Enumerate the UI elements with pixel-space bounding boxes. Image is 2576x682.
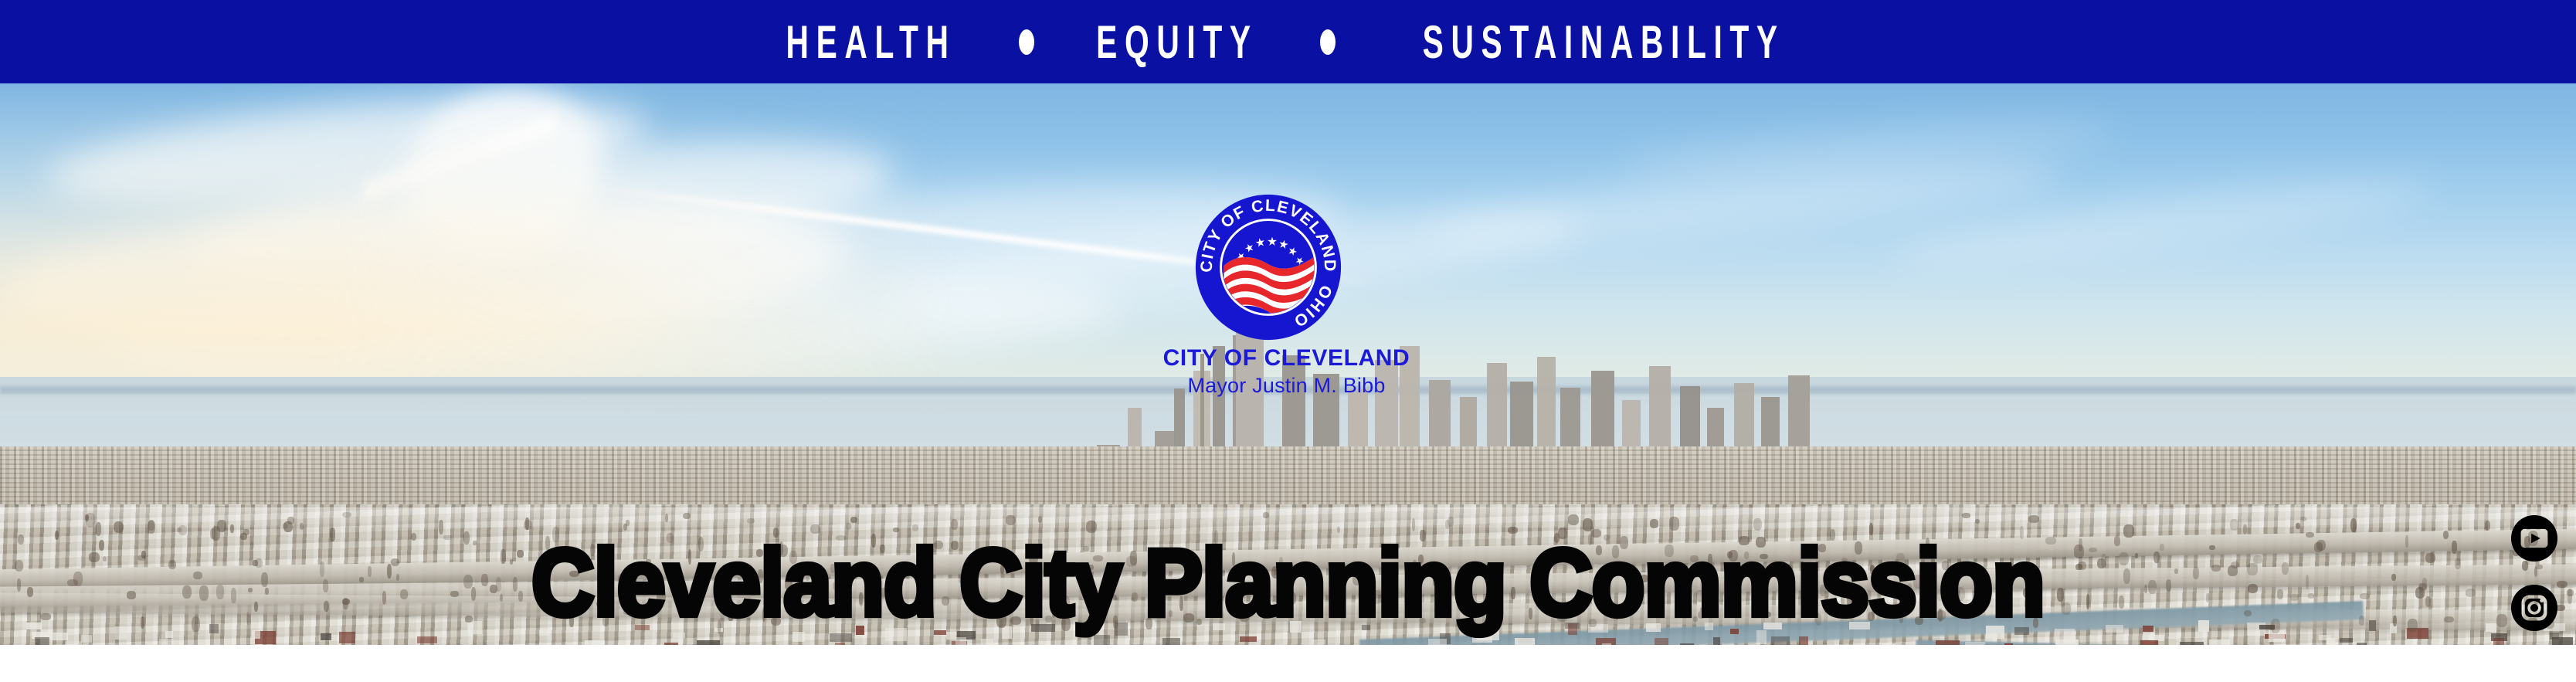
tree <box>463 575 473 589</box>
rooftop <box>2209 640 2230 645</box>
tree <box>510 559 513 565</box>
tree <box>552 527 560 541</box>
rooftop <box>1705 623 1713 630</box>
tree <box>623 524 627 531</box>
tree <box>192 616 200 632</box>
tree <box>1830 529 1835 541</box>
tree <box>55 531 59 540</box>
tree <box>2350 518 2357 532</box>
tree <box>667 533 674 543</box>
tree <box>1926 538 1929 552</box>
rooftop <box>159 639 174 645</box>
tree <box>912 524 918 531</box>
tree <box>789 551 797 565</box>
tree <box>1029 550 1038 565</box>
tree <box>1693 616 1698 622</box>
tree <box>951 519 958 530</box>
tree <box>871 534 877 548</box>
tree <box>2123 524 2134 538</box>
rooftop <box>934 630 946 636</box>
rooftop <box>1162 638 1180 645</box>
tree <box>2089 548 2098 552</box>
tree <box>942 596 949 606</box>
tree <box>2296 523 2300 529</box>
rooftop <box>1213 623 1225 630</box>
tree <box>2023 588 2031 599</box>
tree <box>1815 613 1822 626</box>
tree <box>2247 563 2258 575</box>
tree <box>1899 614 1903 623</box>
tree <box>657 589 666 603</box>
rooftop <box>1730 629 1739 634</box>
tree <box>1218 569 1222 578</box>
rooftop <box>1472 632 1493 643</box>
tree <box>2086 594 2089 609</box>
tree <box>2045 537 2056 545</box>
tree <box>2028 515 2039 523</box>
rooftop <box>2327 638 2335 645</box>
rooftop <box>1478 624 1492 629</box>
slogan-bar: HEALTH EQUITY SUSTAINABILITY <box>0 0 2576 83</box>
rooftop <box>209 624 219 633</box>
tree <box>471 587 477 601</box>
tree <box>330 528 334 541</box>
tree <box>1695 570 1699 577</box>
youtube-icon[interactable] <box>2510 514 2558 562</box>
tree <box>18 534 24 545</box>
slogan-separator-dot-1 <box>1019 29 1034 55</box>
tree <box>231 588 236 603</box>
tree <box>893 528 899 532</box>
tree <box>748 582 759 595</box>
tree <box>1305 568 1308 576</box>
tree <box>1870 565 1875 575</box>
tree <box>545 536 550 550</box>
tree <box>1700 607 1706 612</box>
tree <box>1650 519 1658 528</box>
tree <box>1382 579 1388 584</box>
tree <box>590 544 595 556</box>
rooftop <box>2340 638 2352 643</box>
tree <box>785 578 792 590</box>
tree <box>342 599 351 604</box>
tree <box>1568 514 1579 524</box>
tree <box>1255 566 1264 575</box>
tree <box>1337 527 1340 533</box>
tree <box>2466 589 2476 597</box>
rooftop <box>955 637 966 645</box>
tree <box>1392 544 1400 549</box>
tree <box>1061 595 1070 611</box>
tree <box>1855 541 1863 555</box>
tree <box>1093 555 1104 562</box>
tree <box>996 612 1006 628</box>
tree <box>1589 619 1597 627</box>
rooftop <box>792 632 805 642</box>
tree <box>261 572 268 588</box>
tree <box>833 582 839 589</box>
tree <box>323 579 328 592</box>
tree <box>230 524 234 533</box>
rooftop <box>2014 627 2029 635</box>
tree <box>1596 545 1603 555</box>
tree <box>254 602 258 612</box>
tree <box>806 573 809 581</box>
tree <box>1219 612 1224 617</box>
rooftop <box>81 635 92 643</box>
rooftop <box>1312 640 1325 645</box>
rooftop <box>2055 640 2079 645</box>
tree <box>756 549 763 557</box>
tree <box>2443 531 2449 539</box>
tree <box>2359 616 2365 626</box>
tree <box>2020 526 2024 538</box>
rooftop <box>2055 629 2075 640</box>
city-name-label: CITY OF CLEVELAND <box>0 346 2574 371</box>
tree <box>2230 519 2238 531</box>
tree <box>1841 558 1848 562</box>
rooftop <box>2106 625 2123 633</box>
rooftop <box>635 625 650 630</box>
tree <box>1145 618 1152 629</box>
tree <box>2391 574 2396 581</box>
tree <box>1698 611 1705 619</box>
tree <box>2314 542 2323 552</box>
tree <box>1922 586 1933 597</box>
tree <box>1786 564 1793 575</box>
tree <box>216 585 223 599</box>
rooftop <box>321 633 331 640</box>
rooftop <box>885 628 907 642</box>
tree <box>387 564 392 579</box>
tree <box>1818 544 1826 552</box>
tree <box>1591 529 1601 537</box>
rooftop <box>1646 623 1661 631</box>
slogan-inner: HEALTH EQUITY SUSTAINABILITY <box>765 22 1830 62</box>
tree <box>1907 583 1912 593</box>
tree <box>1420 530 1425 541</box>
tree <box>2308 593 2314 599</box>
tree <box>465 616 473 623</box>
tree <box>1583 518 1593 531</box>
rooftop <box>673 633 685 638</box>
tree <box>602 615 609 626</box>
tree <box>300 523 304 530</box>
rooftop <box>35 637 49 645</box>
tree <box>2282 562 2289 575</box>
tree <box>2010 561 2014 575</box>
tree <box>2301 517 2306 521</box>
tree <box>450 591 458 597</box>
slogan-word-sustainability: SUSTAINABILITY <box>1422 19 1784 65</box>
tree <box>2248 584 2258 594</box>
tree <box>1641 575 1648 582</box>
tree <box>665 514 668 522</box>
tree <box>2271 619 2280 633</box>
tree <box>762 607 765 623</box>
tree <box>320 562 324 577</box>
tree <box>1744 551 1749 559</box>
tree <box>934 541 943 550</box>
tree <box>2277 589 2283 599</box>
tree <box>2206 593 2209 602</box>
tree <box>2455 558 2460 568</box>
tree <box>400 589 408 599</box>
tree <box>1913 575 1923 589</box>
tree <box>850 517 857 524</box>
rooftop <box>856 626 864 635</box>
rooftop <box>26 623 42 629</box>
tree <box>1936 589 1945 601</box>
tree <box>1955 587 1965 602</box>
rooftop <box>2143 626 2153 632</box>
tree <box>1132 592 1138 602</box>
tree <box>1615 607 1619 619</box>
tree <box>1739 536 1749 545</box>
tree <box>1085 565 1093 570</box>
city-seal: CITY OF CLEVELAND OHIO <box>1194 193 1342 341</box>
slogan-separator-dot-2 <box>1320 29 1336 55</box>
tree <box>1696 590 1705 602</box>
rooftop <box>1290 621 1302 633</box>
tree <box>368 566 371 577</box>
rooftop <box>539 629 549 636</box>
tree <box>1557 616 1568 622</box>
tree <box>67 579 77 587</box>
tree <box>2033 618 2038 628</box>
tree <box>1708 554 1712 569</box>
tree <box>501 549 506 564</box>
tree <box>2485 521 2490 530</box>
tree <box>1669 517 1679 530</box>
tree <box>859 592 864 606</box>
tree <box>880 545 885 553</box>
tree <box>1083 546 1089 551</box>
tree <box>524 520 532 530</box>
tree <box>2306 532 2314 538</box>
tree <box>463 531 470 545</box>
tree <box>880 588 888 597</box>
tree <box>581 555 588 563</box>
tree <box>96 522 101 536</box>
tree <box>2057 588 2064 602</box>
tree <box>391 558 399 566</box>
tree <box>728 607 733 621</box>
rooftop <box>1756 630 1767 644</box>
rooftop <box>252 630 260 639</box>
tree <box>210 528 216 539</box>
tree <box>683 513 691 519</box>
tree <box>1045 616 1052 623</box>
rooftop <box>417 636 437 644</box>
tree <box>2114 536 2120 546</box>
tree <box>1279 557 1283 568</box>
tree <box>168 560 176 569</box>
tree <box>1086 521 1097 534</box>
tree <box>2032 598 2038 612</box>
tree <box>928 548 932 564</box>
tree <box>771 617 781 626</box>
tree <box>2496 614 2507 627</box>
tree <box>137 555 146 560</box>
tree <box>1789 581 1794 586</box>
tree <box>265 588 269 594</box>
tree <box>1904 565 1908 577</box>
tree <box>1612 545 1619 558</box>
tree <box>1239 608 1250 622</box>
rooftop <box>2486 623 2496 632</box>
tree <box>2166 579 2171 592</box>
tree <box>641 609 648 615</box>
tree <box>1765 612 1771 616</box>
tree <box>1962 513 1970 518</box>
rooftop <box>1428 639 1447 645</box>
tree <box>178 525 188 534</box>
tree <box>2405 535 2408 548</box>
tree <box>1760 554 1768 560</box>
tree <box>243 529 249 534</box>
tree <box>1665 545 1674 557</box>
tree <box>810 524 820 534</box>
tree <box>439 520 443 534</box>
rooftop <box>339 632 355 643</box>
tree <box>2243 524 2247 534</box>
tree <box>15 560 24 572</box>
rooftop <box>165 631 172 638</box>
tree <box>2153 551 2160 563</box>
rooftop <box>1362 625 1370 630</box>
tree <box>618 574 625 583</box>
tree <box>2101 554 2106 568</box>
tree <box>86 513 95 528</box>
tree <box>1130 551 1136 565</box>
tree <box>2425 553 2435 563</box>
tree <box>1113 595 1117 599</box>
social-links[interactable] <box>2510 514 2558 645</box>
tree <box>1433 578 1437 585</box>
tree <box>1936 610 1946 620</box>
slogan-word-equity: EQUITY <box>1096 19 1257 65</box>
tree <box>496 577 501 591</box>
tree <box>2119 595 2124 608</box>
tree <box>1445 606 1449 617</box>
slogan-word-health: HEALTH <box>786 19 955 65</box>
tree <box>342 512 351 517</box>
tree <box>1038 516 1042 522</box>
tree <box>1915 616 1923 625</box>
tree <box>669 573 672 584</box>
tree <box>443 535 452 540</box>
tree <box>596 601 603 607</box>
rooftop <box>1515 638 1535 645</box>
tree <box>2148 580 2157 594</box>
tree <box>1156 605 1164 614</box>
rooftop <box>115 626 126 640</box>
tree <box>2557 581 2567 588</box>
tree <box>1278 602 1282 612</box>
tree <box>2074 545 2084 558</box>
tree <box>2144 585 2147 592</box>
tree <box>1162 575 1166 589</box>
rooftop <box>1986 626 2004 639</box>
tree <box>481 574 488 586</box>
tree <box>2452 541 2457 554</box>
rooftop <box>1763 623 1783 629</box>
tree <box>2211 565 2221 572</box>
tree <box>866 605 874 618</box>
tree <box>790 593 800 605</box>
tree <box>758 569 763 582</box>
rooftop <box>1094 635 1110 645</box>
tree <box>324 601 329 612</box>
rooftop <box>2493 638 2503 645</box>
tree <box>1690 555 1699 563</box>
tree <box>698 537 704 551</box>
tree <box>193 572 202 580</box>
tree <box>2193 567 2200 579</box>
tree <box>1582 606 1585 612</box>
tree <box>1196 619 1202 625</box>
tree <box>17 579 21 592</box>
tree <box>1419 618 1427 623</box>
rooftop <box>1771 636 1790 645</box>
tree <box>1418 555 1424 565</box>
tree <box>248 588 252 592</box>
bottom-white-strip <box>0 645 2576 682</box>
rooftop <box>1031 624 1055 632</box>
tree <box>569 571 580 577</box>
tree <box>359 577 364 582</box>
tree <box>1614 565 1618 572</box>
tree <box>1010 616 1021 625</box>
tree <box>569 613 573 628</box>
tree <box>2075 564 2082 570</box>
tree <box>2062 602 2071 615</box>
rooftop <box>1655 638 1668 645</box>
tree <box>1183 613 1194 623</box>
tree <box>1784 587 1789 592</box>
rooftop <box>467 621 482 633</box>
tree <box>1508 527 1518 534</box>
tree <box>1756 537 1766 548</box>
tree <box>846 523 851 530</box>
tree <box>646 559 650 564</box>
tree <box>1554 533 1560 542</box>
tree <box>27 587 33 597</box>
tree <box>1286 592 1296 606</box>
tree <box>1205 565 1213 575</box>
tree <box>2119 552 2130 565</box>
rooftop <box>1799 636 1808 645</box>
tree <box>1896 553 1905 565</box>
instagram-icon[interactable] <box>2510 584 2558 632</box>
tree <box>778 545 788 558</box>
tree <box>1942 561 1949 570</box>
rooftop <box>2198 620 2209 631</box>
tree <box>959 574 963 583</box>
tree <box>114 521 124 534</box>
tree <box>2408 619 2418 632</box>
rooftop <box>830 633 852 643</box>
tree <box>1847 594 1856 606</box>
tree <box>1460 588 1468 598</box>
tree <box>141 616 144 629</box>
tree <box>1061 617 1071 631</box>
tree <box>1232 552 1236 566</box>
rooftop <box>1002 626 1011 639</box>
tree <box>1709 575 1713 587</box>
tree <box>1529 608 1532 619</box>
